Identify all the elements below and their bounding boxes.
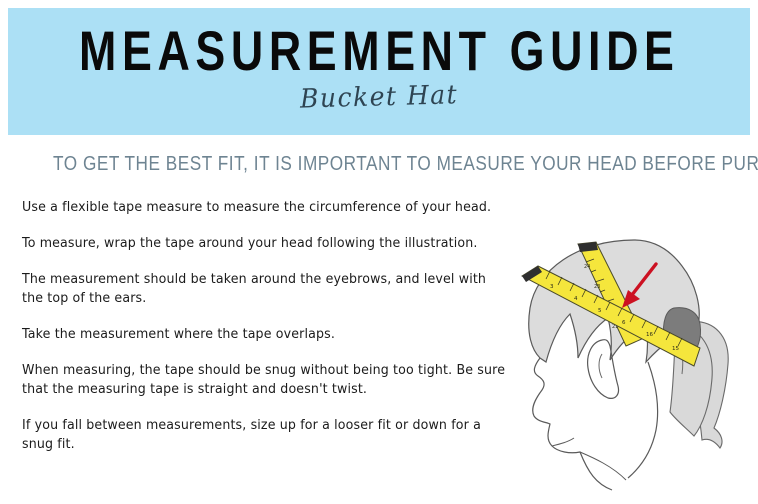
svg-text:4: 4 — [574, 296, 578, 302]
instruction-paragraph: The measurement should be taken around t… — [22, 270, 507, 308]
instruction-paragraph: Take the measurement where the tape over… — [22, 325, 507, 344]
product-subtitle: Bucket Hat — [300, 79, 459, 115]
svg-text:5: 5 — [598, 308, 602, 314]
svg-text:15: 15 — [672, 346, 679, 352]
instruction-paragraph: Use a flexible tape measure to measure t… — [22, 198, 507, 217]
svg-text:6: 6 — [622, 320, 626, 326]
instructions-list: Use a flexible tape measure to measure t… — [22, 198, 522, 454]
svg-text:24: 24 — [584, 264, 590, 270]
instruction-paragraph: If you fall between measurements, size u… — [22, 416, 507, 454]
page-title: MEASUREMENT GUIDE — [79, 22, 679, 80]
svg-text:16: 16 — [646, 332, 653, 338]
instruction-paragraph: When measuring, the tape should be snug … — [22, 361, 507, 399]
svg-text:3: 3 — [550, 284, 554, 290]
head-measuring-illustration: 24 23 22 21 — [516, 222, 758, 504]
header-banner: MEASUREMENT GUIDE Bucket Hat — [8, 8, 750, 135]
subheading: TO GET THE BEST FIT, IT IS IMPORTANT TO … — [53, 152, 705, 176]
svg-text:23: 23 — [594, 284, 600, 290]
instruction-paragraph: To measure, wrap the tape around your he… — [22, 234, 507, 253]
